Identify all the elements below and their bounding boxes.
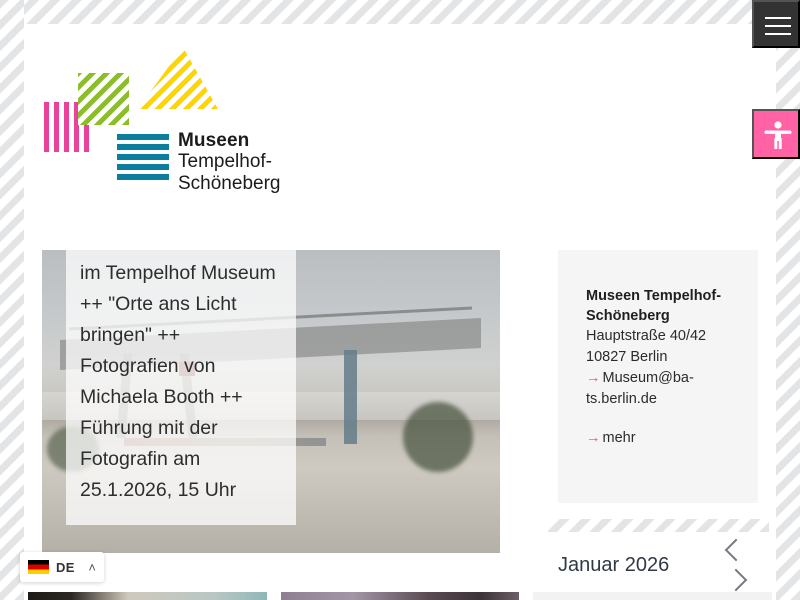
page-root: Museen Tempelhof- Schöneberg (0, 0, 800, 600)
chevron-right-icon[interactable] (725, 569, 748, 592)
hamburger-menu-button[interactable] (752, 0, 800, 48)
contact-card: Museen Tempelhof- Schöneberg Hauptstraße… (558, 250, 758, 503)
hamburger-bar-3 (765, 33, 791, 35)
contact-title-line-1: Museen Tempelhof- (586, 286, 734, 306)
contact-more-label: mehr (603, 430, 636, 446)
calendar-stripe-divider (548, 519, 769, 532)
logo-yellow-triangle-icon (138, 47, 218, 109)
logo-line-2: Tempelhof- (178, 151, 280, 172)
calendar-month-label: Januar 2026 (558, 554, 669, 577)
hamburger-bar-1 (765, 17, 791, 19)
event-calendar: Januar 2026 (548, 540, 776, 600)
logo-line-1: Museen (178, 130, 280, 151)
accessibility-widget-button[interactable] (752, 109, 800, 159)
de-flag-icon (28, 560, 49, 574)
logo-line-3: Schöneberg (178, 173, 280, 194)
contact-email-link[interactable]: →Museum@ba-ts.berlin.de (586, 368, 734, 410)
contact-title-line-2: Schöneberg (586, 306, 734, 326)
calendar-navigation (726, 540, 752, 588)
arrow-right-icon: → (586, 370, 601, 386)
site-logo[interactable]: Museen Tempelhof- Schöneberg (42, 42, 302, 187)
hamburger-bar-2 (765, 25, 791, 27)
teaser-card-2[interactable] (281, 592, 520, 600)
site-header: Museen Tempelhof- Schöneberg (24, 24, 776, 194)
hero-crane-column (344, 350, 357, 444)
contact-more-link[interactable]: →mehr (586, 428, 734, 449)
language-switcher[interactable]: DE ˄ (20, 552, 104, 582)
logo-wordmark: Museen Tempelhof- Schöneberg (178, 130, 280, 194)
decorative-stripe-border-top (0, 0, 800, 24)
hero-overlay-text: im Tempelhof Museum ++ "Orte ans Licht b… (80, 258, 282, 506)
language-code-label: DE (56, 560, 75, 575)
contact-street: Hauptstraße 40/42 (586, 326, 734, 347)
accessibility-person-icon (763, 120, 793, 152)
chevron-up-icon: ˄ (88, 561, 96, 574)
decorative-stripe-border-right (776, 0, 800, 600)
teaser-card-1[interactable] (28, 592, 267, 600)
logo-teal-bars-icon (117, 134, 169, 180)
contact-city: 10827 Berlin (586, 347, 734, 368)
hero-tree-right (403, 402, 473, 472)
decorative-stripe-border-left (0, 0, 24, 600)
chevron-left-icon[interactable] (725, 539, 748, 562)
hero-text-overlay: im Tempelhof Museum ++ "Orte ans Licht b… (66, 250, 296, 525)
contact-email-label: Museum@ba-ts.berlin.de (586, 370, 694, 407)
hero-slider[interactable]: im Tempelhof Museum ++ "Orte ans Licht b… (42, 250, 500, 553)
logo-green-square-icon (78, 73, 129, 125)
arrow-right-icon: → (586, 430, 601, 446)
